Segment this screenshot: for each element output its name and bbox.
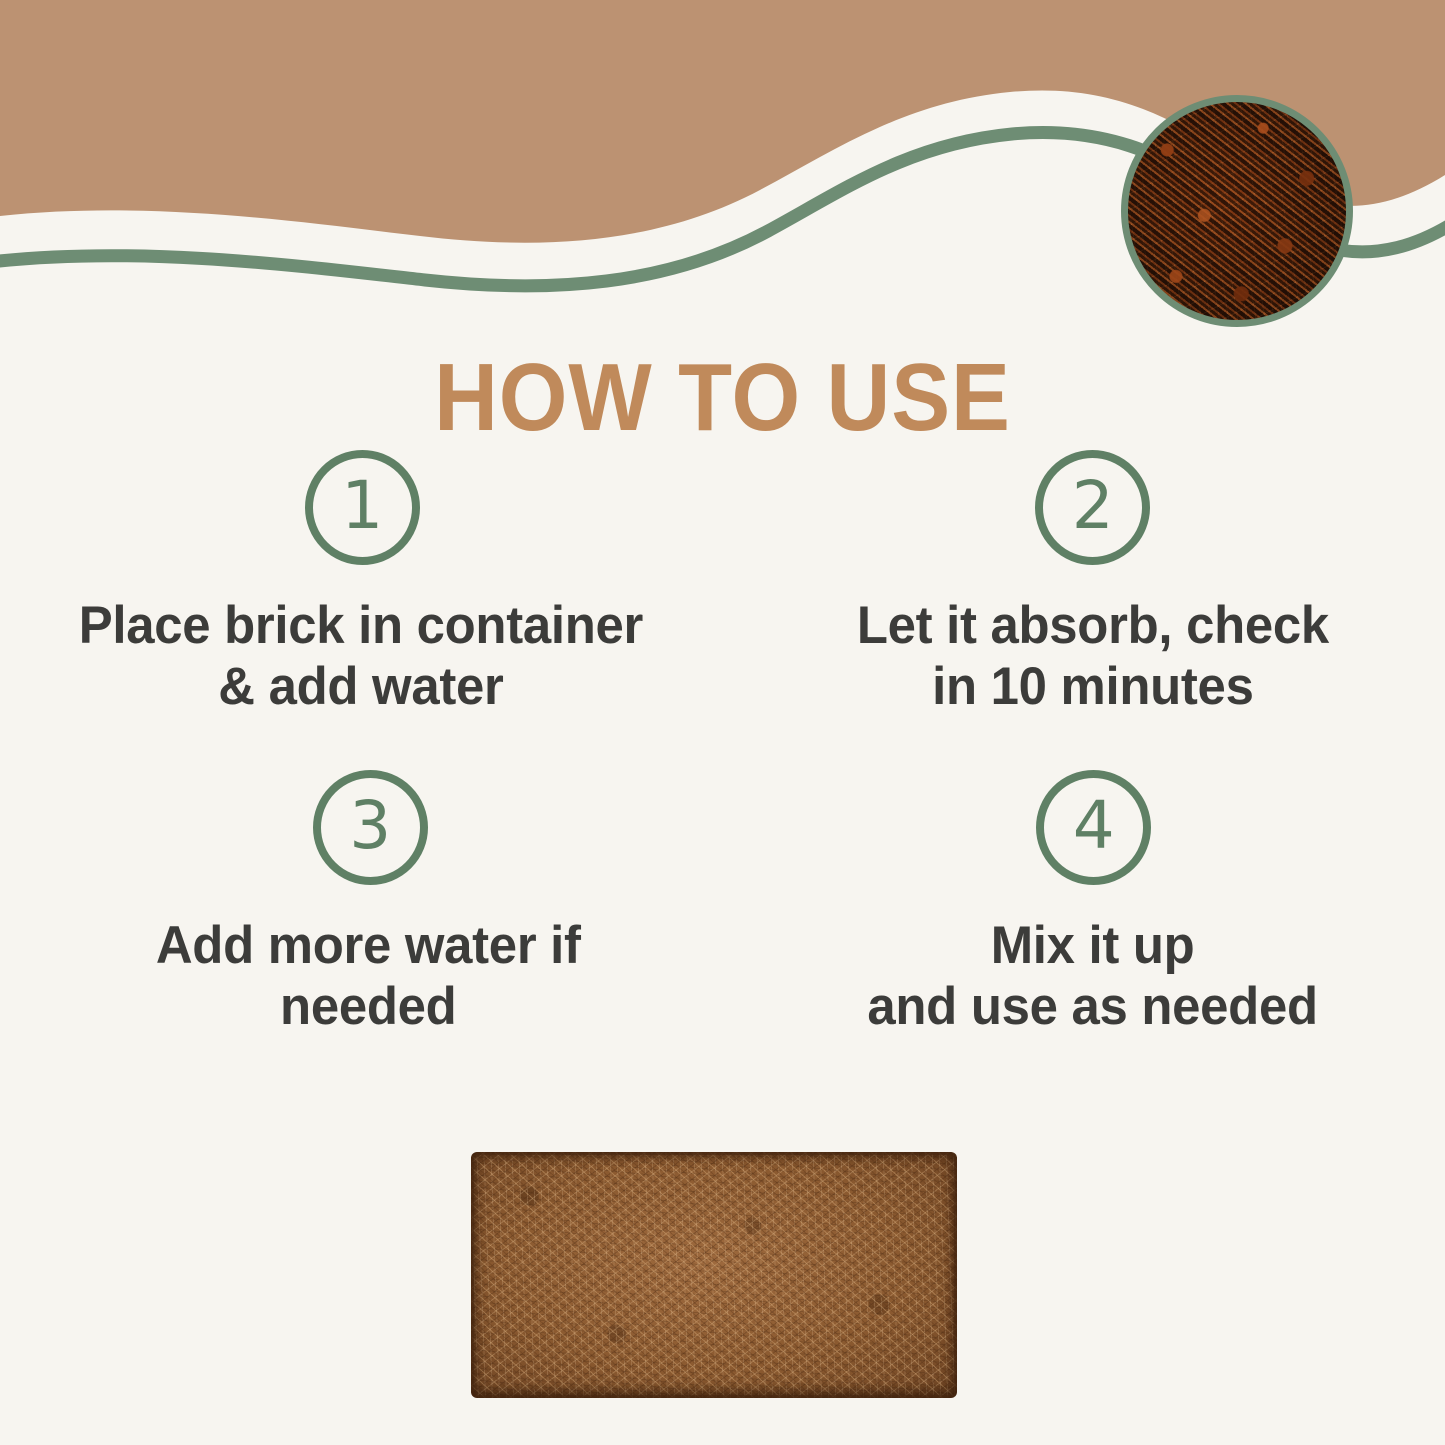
steps-grid: 1 Place brick in container & add water 2… — [0, 450, 1445, 1090]
step-item-1: 1 Place brick in container & add water — [0, 450, 723, 770]
coco-coir-brick-image — [471, 1152, 957, 1398]
step-item-2: 2 Let it absorb, check in 10 minutes — [723, 450, 1445, 770]
step-item-3: 3 Add more water if needed — [0, 770, 723, 1090]
step-number-badge-3: 3 — [313, 770, 428, 885]
step-number-badge-2: 2 — [1035, 450, 1150, 565]
page-title: HOW TO USE — [58, 350, 1387, 446]
coir-closeup-circle-image — [1121, 95, 1353, 327]
step-text-1: Place brick in container & add water — [79, 595, 643, 718]
step-number-3: 3 — [349, 793, 391, 859]
step-text-4: Mix it up and use as needed — [868, 915, 1318, 1038]
step-text-2: Let it absorb, check in 10 minutes — [857, 595, 1329, 718]
how-to-use-infographic: HOW TO USE 1 Place brick in container & … — [0, 0, 1445, 1445]
step-number-badge-4: 4 — [1036, 770, 1151, 885]
step-number-1: 1 — [341, 473, 383, 539]
step-text-3: Add more water if needed — [156, 915, 581, 1038]
step-number-4: 4 — [1073, 793, 1115, 859]
step-number-2: 2 — [1072, 473, 1114, 539]
step-item-4: 4 Mix it up and use as needed — [723, 770, 1445, 1090]
step-number-badge-1: 1 — [305, 450, 420, 565]
